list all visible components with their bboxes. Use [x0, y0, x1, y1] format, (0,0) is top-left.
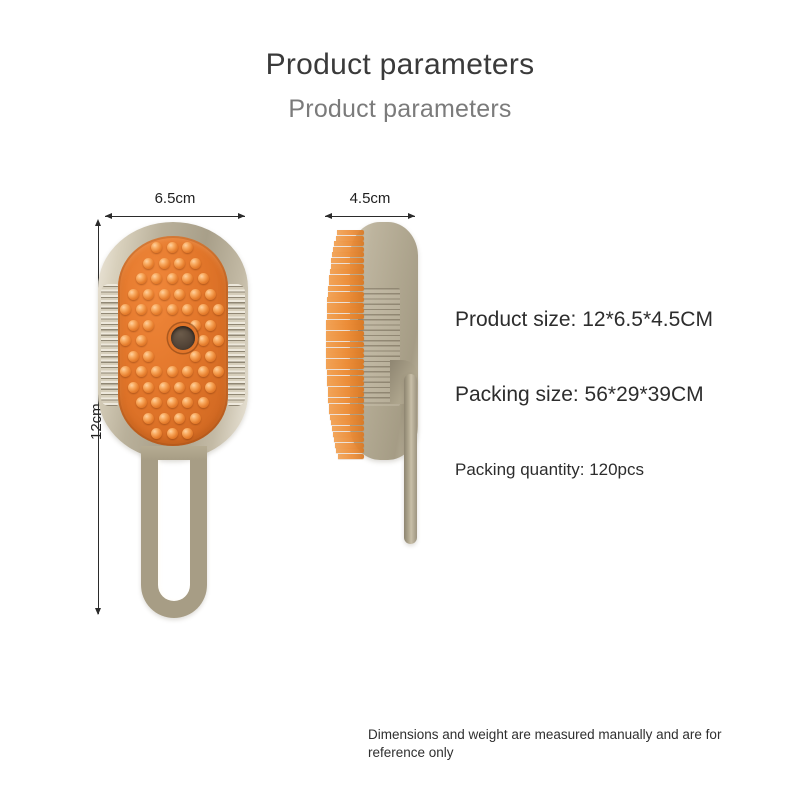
silicone-bump [128, 289, 139, 300]
silicone-bump [159, 289, 170, 300]
bristle-pin [330, 415, 364, 420]
bristle-pin [327, 376, 364, 381]
dimension-line-side-width [325, 216, 415, 217]
silicone-bump [136, 304, 147, 315]
bristle-pin [331, 258, 364, 263]
silicone-bump [167, 304, 178, 315]
silicone-bump [151, 428, 162, 439]
silicone-bump [159, 382, 170, 393]
spec-packing-size: Packing size: 56*29*39CM [455, 383, 704, 407]
silicone-bump [174, 258, 185, 269]
bristle-pin [337, 230, 364, 235]
bristle-pin [328, 292, 364, 297]
silicone-bump [143, 382, 154, 393]
silicone-bump [205, 351, 216, 362]
dimension-arrow-bottom-height [95, 608, 101, 615]
silicone-bump [213, 335, 224, 346]
silicone-bump [182, 428, 193, 439]
silicone-bump [198, 366, 209, 377]
product-side-view [312, 222, 418, 462]
bristle-pin [328, 387, 364, 392]
silicone-bump [167, 273, 178, 284]
silicone-bump [182, 273, 193, 284]
bristle-pin [333, 432, 364, 437]
bristle-pin [327, 297, 364, 302]
bristle-pin [330, 269, 364, 274]
bristle-pin [333, 247, 364, 252]
silicone-bump [128, 320, 139, 331]
silicone-bump [182, 366, 193, 377]
dimension-label-side-width: 4.5cm [325, 190, 415, 207]
silicone-bump [198, 335, 209, 346]
silicone-bump [182, 397, 193, 408]
bristle-pin [332, 426, 364, 431]
silicone-bump [136, 335, 147, 346]
silicone-bump [205, 320, 216, 331]
silicone-bump [190, 413, 201, 424]
bristle-pin [329, 275, 364, 280]
bristle-pin [328, 398, 364, 403]
measurement-disclaimer: Dimensions and weight are measured manua… [368, 726, 778, 762]
bristle-pin [326, 320, 364, 325]
silicone-bump [198, 273, 209, 284]
page-subtitle: Product parameters [0, 95, 800, 124]
bristle-pin [329, 280, 364, 285]
bristle-pin [336, 448, 364, 453]
silicone-bump [182, 304, 193, 315]
bristle-pin [329, 409, 364, 414]
bristle-pin [326, 364, 364, 369]
silicone-bump [136, 366, 147, 377]
silicone-bump [151, 242, 162, 253]
bristle-pin [329, 404, 364, 409]
silicone-bump [182, 242, 193, 253]
silicone-bump [167, 242, 178, 253]
bristle-pin [326, 325, 364, 330]
dimension-arrow-right-side-width [408, 213, 415, 219]
product-parameters-page: Product parameters Product parameters 6.… [0, 0, 800, 800]
silicone-bump [205, 382, 216, 393]
silicone-bump [198, 397, 209, 408]
bristle-pin [326, 336, 364, 341]
silicone-bump [174, 382, 185, 393]
bristle-pin [326, 342, 364, 347]
silicone-bump [205, 289, 216, 300]
silicone-bump [120, 304, 131, 315]
silicone-bump [167, 428, 178, 439]
silicone-bump [159, 258, 170, 269]
front-handle-loop [141, 450, 207, 618]
bristle-pin [332, 252, 364, 257]
bristle-pin [327, 303, 364, 308]
bristle-pin [326, 359, 364, 364]
silicone-bump [151, 273, 162, 284]
silicone-bump [143, 320, 154, 331]
silicone-bump [151, 366, 162, 377]
silicone-bump [213, 304, 224, 315]
silicone-bump [174, 289, 185, 300]
silicone-bump [213, 366, 224, 377]
silicone-bump [190, 382, 201, 393]
silicone-bump [190, 258, 201, 269]
dimension-arrow-right-front-width [238, 213, 245, 219]
steam-nozzle-hole [171, 326, 195, 350]
spec-product-size: Product size: 12*6.5*4.5CM [455, 308, 713, 332]
bristle-pin [331, 420, 364, 425]
silicone-bump [167, 397, 178, 408]
silicone-bump [190, 289, 201, 300]
silicone-bump [136, 397, 147, 408]
silicone-bump [120, 335, 131, 346]
bristle-pin [327, 314, 364, 319]
silicone-bump [167, 366, 178, 377]
bristle-pin [331, 264, 364, 269]
silicone-bump [143, 413, 154, 424]
dimension-line-front-width [105, 216, 245, 217]
dimension-arrow-left-front-width [105, 213, 112, 219]
bristle-pin [328, 392, 364, 397]
bristle-pin [336, 236, 364, 241]
side-handle-bar [404, 374, 417, 544]
silicone-bump [128, 351, 139, 362]
bristle-pin [326, 348, 364, 353]
bristle-pin [327, 381, 364, 386]
bristle-pin [327, 370, 364, 375]
bristle-pin [334, 241, 364, 246]
silicone-bump [128, 382, 139, 393]
dimension-arrow-left-side-width [325, 213, 332, 219]
bristle-pin [326, 353, 364, 358]
silicone-bump [136, 273, 147, 284]
product-front-view [98, 222, 248, 460]
silicone-bump [198, 304, 209, 315]
comb-teeth-right [228, 284, 245, 406]
silicone-bump [143, 258, 154, 269]
dimension-label-front-width: 6.5cm [105, 190, 245, 207]
bristle-pin [327, 308, 364, 313]
silicone-bump [151, 397, 162, 408]
silicone-bump [143, 289, 154, 300]
page-title: Product parameters [0, 48, 800, 82]
silicone-bump [120, 366, 131, 377]
spec-packing-quantity: Packing quantity: 120pcs [455, 460, 644, 480]
silicone-bump [143, 351, 154, 362]
bristle-pin [338, 454, 364, 459]
bristle-pin [328, 286, 364, 291]
bristle-pin [326, 331, 364, 336]
silicone-bump [174, 413, 185, 424]
silicone-bump [159, 413, 170, 424]
silicone-bump [190, 351, 201, 362]
bristle-pin [335, 443, 364, 448]
comb-teeth-left [101, 284, 118, 406]
silicone-bump [151, 304, 162, 315]
bristle-pin [334, 437, 364, 442]
